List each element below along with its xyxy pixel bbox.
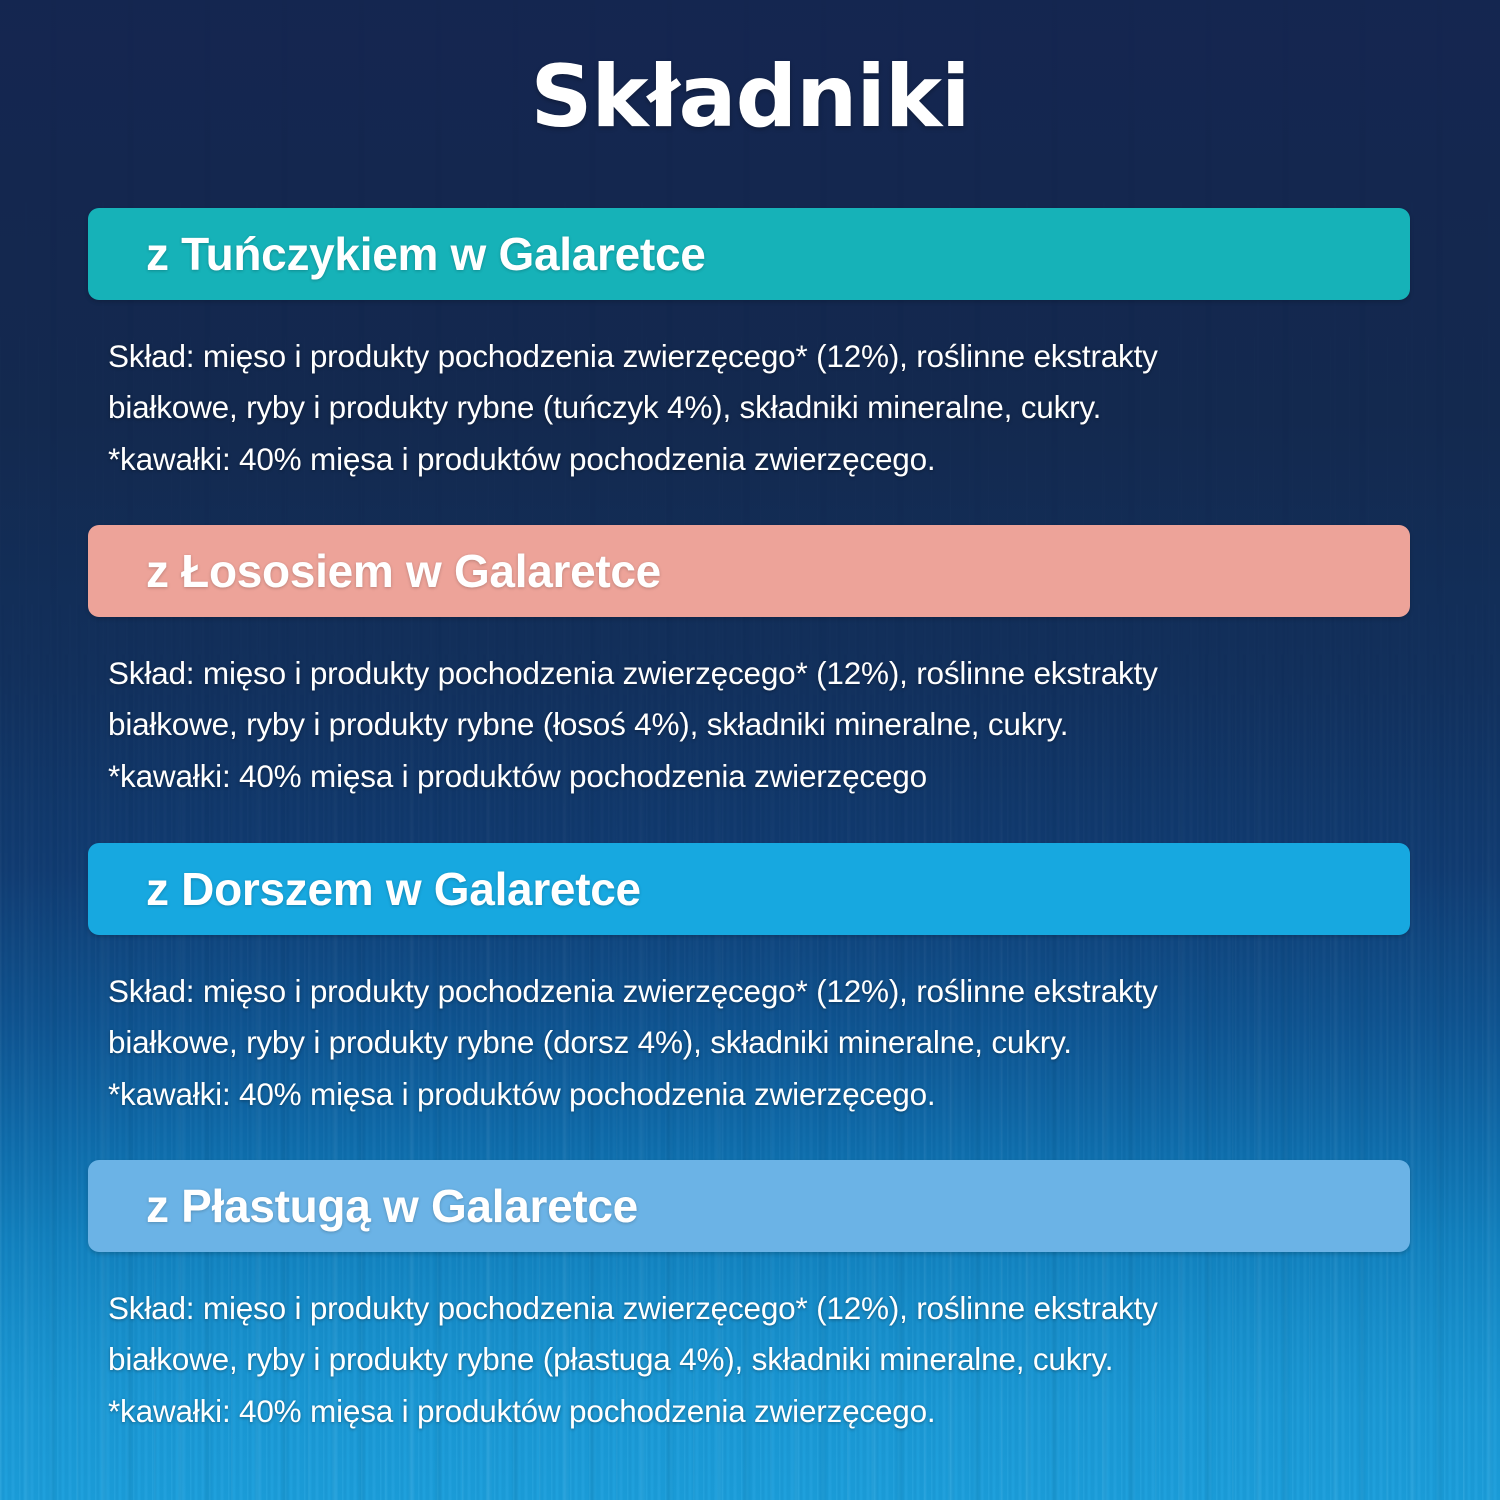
poster-content: Składniki z Tuńczykiem w Galaretce Skład… (0, 0, 1500, 1500)
ingredient-section-plastuga: z Płastugą w Galaretce Skład: mięso i pr… (88, 1160, 1410, 1434)
ingredients-line: białkowe, ryby i produkty rybne (płastug… (108, 1337, 1410, 1382)
variant-title-plastuga: z Płastugą w Galaretce (88, 1179, 638, 1233)
page-title: Składniki (0, 54, 1500, 140)
ingredients-line: Skład: mięso i produkty pochodzenia zwie… (108, 1286, 1410, 1331)
ingredients-footnote: *kawałki: 40% mięsa i produktów pochodze… (108, 1072, 1410, 1117)
ingredients-line: Skład: mięso i produkty pochodzenia zwie… (108, 969, 1410, 1014)
ingredients-text-plastuga: Skład: mięso i produkty pochodzenia zwie… (88, 1286, 1410, 1434)
ingredients-line: Skład: mięso i produkty pochodzenia zwie… (108, 651, 1410, 696)
variant-banner-tunczyk: z Tuńczykiem w Galaretce (88, 208, 1410, 300)
variant-banner-losos: z Łososiem w Galaretce (88, 525, 1410, 617)
ingredients-text-tunczyk: Skład: mięso i produkty pochodzenia zwie… (88, 334, 1410, 482)
ingredient-section-dorsz: z Dorszem w Galaretce Skład: mięso i pro… (88, 843, 1410, 1117)
variant-banner-dorsz: z Dorszem w Galaretce (88, 843, 1410, 935)
variant-title-tunczyk: z Tuńczykiem w Galaretce (88, 227, 706, 281)
ingredient-section-losos: z Łososiem w Galaretce Skład: mięso i pr… (88, 525, 1410, 799)
ingredients-line: Skład: mięso i produkty pochodzenia zwie… (108, 334, 1410, 379)
ingredients-text-dorsz: Skład: mięso i produkty pochodzenia zwie… (88, 969, 1410, 1117)
ingredients-line: białkowe, ryby i produkty rybne (tuńczyk… (108, 385, 1410, 430)
ingredients-line: białkowe, ryby i produkty rybne (łosoś 4… (108, 702, 1410, 747)
variant-banner-plastuga: z Płastugą w Galaretce (88, 1160, 1410, 1252)
ingredient-section-tunczyk: z Tuńczykiem w Galaretce Skład: mięso i … (88, 208, 1410, 482)
ingredients-footnote: *kawałki: 40% mięsa i produktów pochodze… (108, 754, 1410, 799)
ingredients-footnote: *kawałki: 40% mięsa i produktów pochodze… (108, 437, 1410, 482)
variant-title-losos: z Łososiem w Galaretce (88, 544, 661, 598)
ingredients-poster: Składniki z Tuńczykiem w Galaretce Skład… (0, 0, 1500, 1500)
ingredients-line: białkowe, ryby i produkty rybne (dorsz 4… (108, 1020, 1410, 1065)
variant-title-dorsz: z Dorszem w Galaretce (88, 862, 641, 916)
ingredients-footnote: *kawałki: 40% mięsa i produktów pochodze… (108, 1389, 1410, 1434)
ingredients-text-losos: Skład: mięso i produkty pochodzenia zwie… (88, 651, 1410, 799)
